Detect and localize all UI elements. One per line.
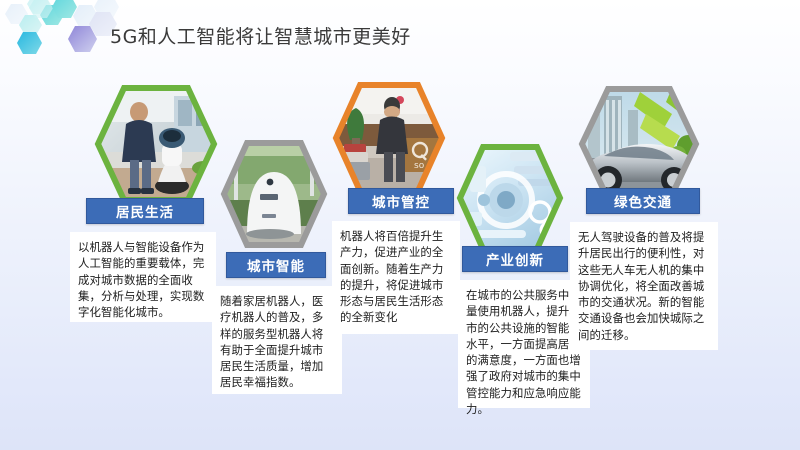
card-image-hexagon-city-intelligence — [218, 138, 330, 250]
photo-city-intelligence — [218, 138, 330, 250]
card-label-city-management[interactable]: 城市管控 — [348, 188, 454, 214]
page-title: 5G和人工智能将让智慧城市更美好 — [110, 22, 411, 49]
card-label-industrial-innovation[interactable]: 产业创新 — [462, 246, 568, 272]
card-label-green-transport[interactable]: 绿色交通 — [586, 188, 700, 214]
card-image-hexagon-green-transport — [576, 84, 704, 204]
photo-green-transport — [576, 84, 704, 204]
card-image-hexagon-industrial-innovation — [454, 142, 566, 254]
svg-text:so: so — [414, 161, 425, 171]
slide-canvas: 5G和人工智能将让智慧城市更美好 — [0, 0, 800, 450]
card-text-green-transport: 无人驾驶设备的普及将提升居民出行的便利性，对这些无人车无人机的集中协调优化，将全… — [570, 222, 718, 350]
card-label-city-intelligence[interactable]: 城市智能 — [226, 252, 326, 278]
slide-header: 5G和人工智能将让智慧城市更美好 — [0, 0, 800, 62]
card-text-resident-life: 以机器人与智能设备作为人工智能的重要载体，完成对城市数据的全面收集，分析与处理，… — [70, 232, 216, 322]
card-label-resident-life[interactable]: 居民生活 — [86, 198, 204, 224]
photo-city-management: so — [330, 80, 448, 196]
photo-resident-life — [92, 82, 220, 206]
photo-industrial-innovation — [454, 142, 566, 254]
card-text-city-intelligence: 随着家居机器人，医疗机器人的普及，多样的服务型机器人将有助于全面提升城市居民生活… — [212, 286, 342, 394]
card-text-city-management: 机器人将百倍提升生产力，促进产业的全面创新。随着生产力的提升，将促进城市形态与居… — [332, 221, 460, 334]
card-image-hexagon-city-management: so — [330, 80, 448, 196]
card-image-hexagon-resident-life — [92, 82, 220, 206]
